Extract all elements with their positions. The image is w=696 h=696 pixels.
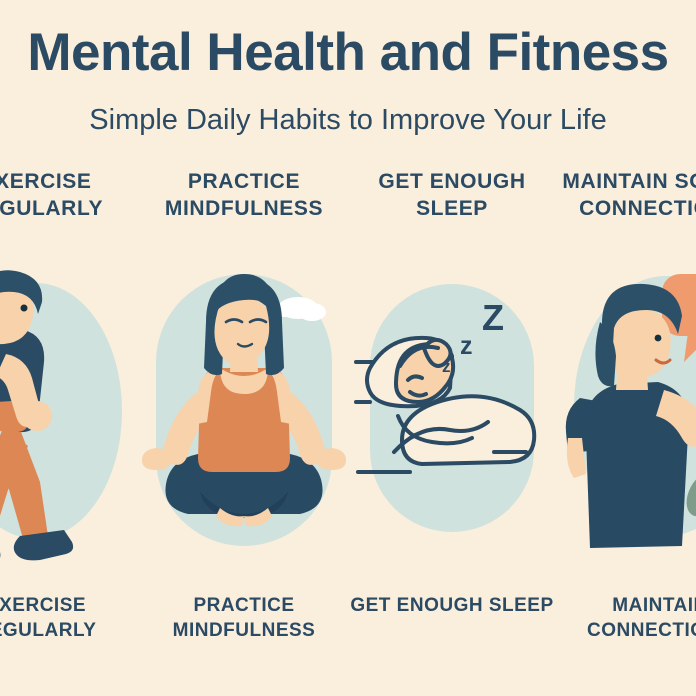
zzz-medium: z (460, 332, 473, 360)
habit-caption-sleep: GET ENOUGH SLEEP (348, 593, 556, 618)
habit-header-exercise: EXERCISE REGULARLY (0, 168, 140, 222)
zzz-small: z (442, 357, 451, 376)
habit-column-sleep: GET ENOUGH SLEEP (348, 168, 556, 688)
eye (21, 305, 28, 312)
habit-header-sleep: GET ENOUGH SLEEP (348, 168, 556, 222)
meditating-woman-illustration (140, 256, 348, 576)
fist (22, 401, 52, 431)
habit-header-mindfulness: PRACTICE MINDFULNESS (140, 168, 348, 222)
habit-column-social: MAINTAIN SOCIAL CONNECTIONS (556, 168, 696, 688)
habit-caption-mindfulness: PRACTICE MINDFULNESS (140, 593, 348, 643)
left-hand (142, 448, 172, 470)
sleeping-person-illustration: Z z z (348, 256, 556, 576)
running-woman-illustration (0, 256, 140, 576)
right-hand (316, 448, 346, 470)
page-title: Mental Health and Fitness (0, 24, 696, 82)
talking-people-illustration (556, 256, 696, 576)
zzz-large: Z (482, 297, 504, 338)
habit-columns: EXERCISE REGULARLY (0, 168, 696, 688)
habit-column-mindfulness: PRACTICE MINDFULNESS (140, 168, 348, 688)
habit-header-social: MAINTAIN SOCIAL CONNECTIONS (556, 168, 696, 222)
habit-caption-exercise: EXERCISE REGULARLY (0, 593, 140, 643)
habit-column-exercise: EXERCISE REGULARLY (0, 168, 140, 688)
habit-caption-social: MAINTAIN CONNECTIONS (556, 593, 696, 643)
infographic-poster: Mental Health and Fitness Simple Daily H… (0, 0, 696, 696)
eye (655, 335, 662, 342)
page-subtitle: Simple Daily Habits to Improve Your Life (0, 103, 696, 137)
